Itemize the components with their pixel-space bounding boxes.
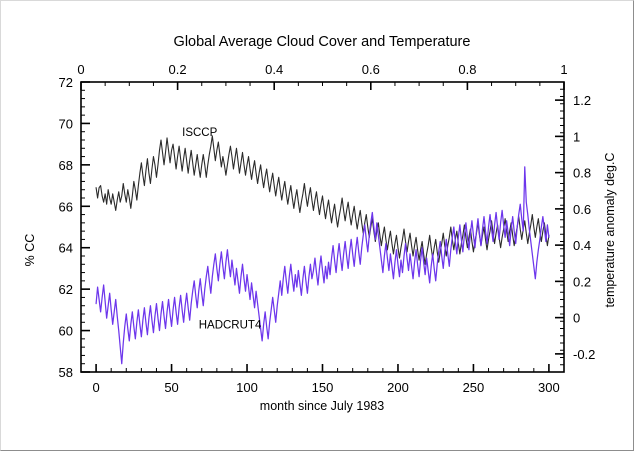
y-tick-label: 68 bbox=[59, 158, 73, 173]
y-tick-label: 66 bbox=[59, 199, 73, 214]
y2-axis-label: temperature anomaly deg.C bbox=[603, 153, 617, 308]
x2-tick-label: 1 bbox=[560, 62, 567, 77]
x2-tick-label: 0.6 bbox=[362, 62, 380, 77]
axis-labels-group: month since July 1983 % CC temperature a… bbox=[23, 153, 617, 413]
x2-tick-label: 0 bbox=[77, 62, 84, 77]
series-label-hadcrut4: HADCRUT4 bbox=[199, 320, 262, 332]
page-title: Global Average Cloud Cover and Temperatu… bbox=[174, 34, 471, 50]
chart-stage: Global Average Cloud Cover and Temperatu… bbox=[0, 0, 640, 457]
series-group bbox=[96, 136, 549, 364]
x-tick-label: 300 bbox=[538, 380, 560, 395]
y-tick-label: 60 bbox=[59, 324, 73, 339]
cloud-cover-temperature-chart: Global Average Cloud Cover and Temperatu… bbox=[0, 0, 640, 457]
x2-tick-label: 0.2 bbox=[169, 62, 187, 77]
series-annotations: ISCCPHADCRUT4 bbox=[182, 127, 262, 332]
y-tick-label: 70 bbox=[59, 116, 73, 131]
x-tick-label: 250 bbox=[463, 380, 485, 395]
x2-tick-label: 0.8 bbox=[458, 62, 476, 77]
y2-tick-label: 0 bbox=[573, 311, 580, 326]
y2-tick-label: -0.2 bbox=[573, 347, 595, 362]
y-tick-label: 58 bbox=[59, 365, 73, 380]
y2-tick-label: 1.2 bbox=[573, 93, 591, 108]
y2-tick-label: 1 bbox=[573, 129, 580, 144]
x2-tick-label: 0.4 bbox=[265, 62, 283, 77]
x-axis-label: month since July 1983 bbox=[260, 399, 384, 413]
x-tick-label: 50 bbox=[164, 380, 178, 395]
y2-tick-label: 0.2 bbox=[573, 274, 591, 289]
x-tick-label: 100 bbox=[236, 380, 258, 395]
y-tick-label: 62 bbox=[59, 282, 73, 297]
x-tick-label: 200 bbox=[387, 380, 409, 395]
x-tick-label: 0 bbox=[92, 380, 99, 395]
x-tick-label: 150 bbox=[312, 380, 334, 395]
axes-group: 05010015020025030000.20.40.60.8158606264… bbox=[59, 62, 596, 395]
y-tick-label: 72 bbox=[59, 75, 73, 90]
chart-title-group: Global Average Cloud Cover and Temperatu… bbox=[174, 34, 471, 50]
y2-tick-label: 0.8 bbox=[573, 166, 591, 181]
y2-tick-label: 0.4 bbox=[573, 238, 591, 253]
series-label-isccp: ISCCP bbox=[182, 127, 217, 139]
y-tick-label: 64 bbox=[59, 241, 73, 256]
y-axis-label: % CC bbox=[23, 234, 37, 267]
y2-tick-label: 0.6 bbox=[573, 202, 591, 217]
